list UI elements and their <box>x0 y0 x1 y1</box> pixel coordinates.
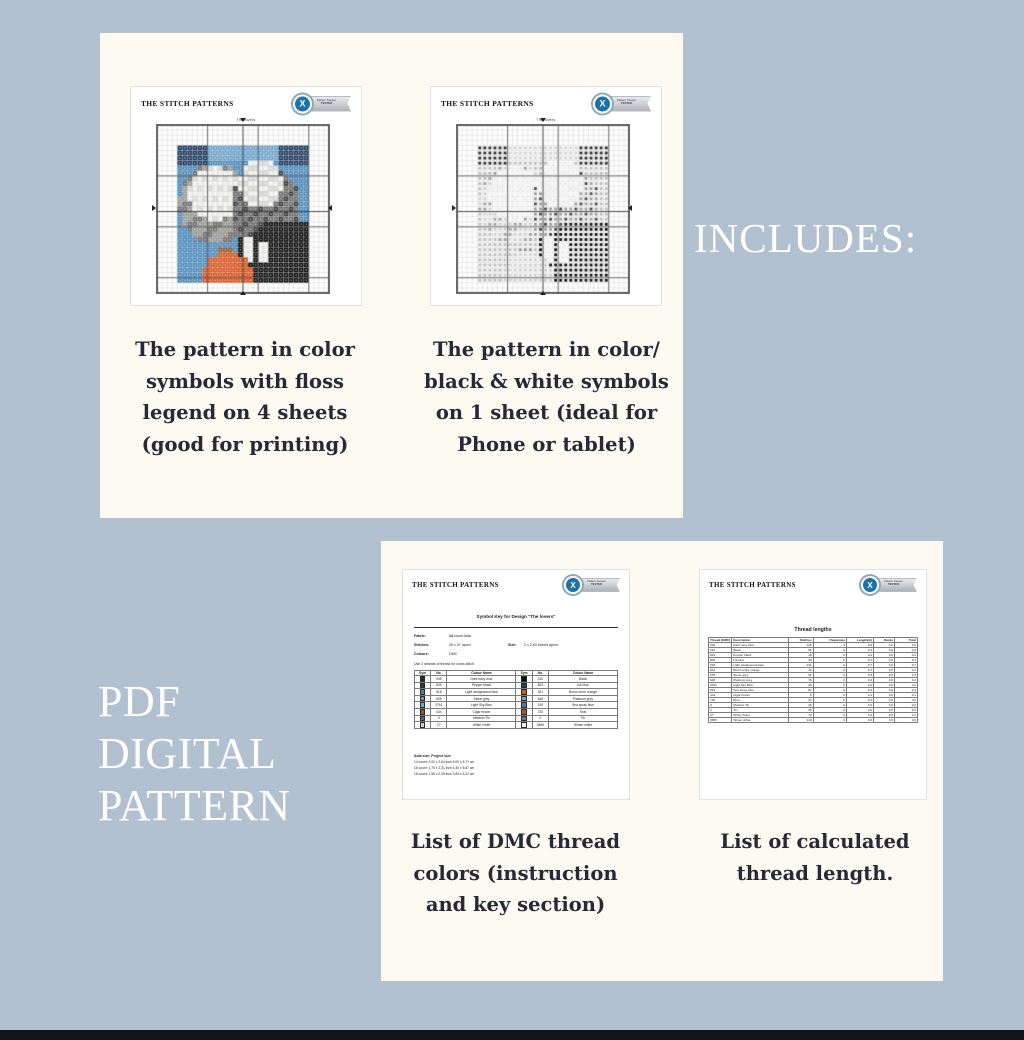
dmc-number-cell: 3865 <box>532 722 548 729</box>
symbol-chip-icon <box>420 689 426 695</box>
symbol-swatch <box>516 702 532 709</box>
colour-name-cell: Burnt ochre orange <box>548 689 617 696</box>
symbol-swatch <box>415 715 431 722</box>
thread-lengths-heading: Thread lengths <box>700 627 926 633</box>
caption-thread-length: List of calculated thread length. <box>690 826 940 889</box>
badge-seal-icon: X <box>564 576 582 594</box>
symbol-swatch <box>516 722 532 729</box>
pdf-line-1: PDF <box>98 676 291 728</box>
symbol-chip-icon <box>420 722 426 728</box>
includes-headline: INCLUDES: <box>694 214 917 262</box>
symbol-swatch <box>415 676 431 683</box>
strands-note: Use 2 strands of thread for cross stitch <box>414 662 474 666</box>
thread-dmc-cell: 3865 <box>709 718 732 723</box>
symbol-swatch <box>415 695 431 702</box>
colour-name-cell: Pepper black <box>447 682 516 689</box>
symbol-swatch <box>516 682 532 689</box>
sheet-header: THE STITCH PATTERNS Pattern Keeper TESTE… <box>700 570 926 593</box>
center-marker-right <box>328 205 332 211</box>
symbol-chip-icon <box>521 716 527 722</box>
table-row: 939Dark navy blue310Black <box>415 676 618 683</box>
thread-value-cell: 110 <box>788 718 813 723</box>
symbol-chip-icon <box>521 709 527 715</box>
symbol-chip-icon <box>420 683 426 689</box>
project-size-title: Aida size: Project size <box>414 754 451 758</box>
sheet-header: THE STITCH PATTERNS Pattern Keeper TESTE… <box>431 87 661 112</box>
dmc-number-cell: 648 <box>532 695 548 702</box>
sheet-brand-title: THE STITCH PATTERNS <box>709 581 796 589</box>
symbol-chip-icon <box>420 716 426 722</box>
pattern-keeper-badge: Pattern Keeper TESTED X <box>293 95 351 112</box>
colour-name-cell: Ink blue <box>548 682 617 689</box>
symbol-swatch <box>415 682 431 689</box>
colour-name-cell: Light wedgewood blue <box>447 689 516 696</box>
thread-col-0: Thread (DMC) <box>709 638 732 643</box>
bw-chart: The lovers <box>456 119 636 294</box>
thread-value-cell: 0.6 <box>847 718 874 723</box>
symbol-swatch <box>415 708 431 715</box>
pdf-line-2: DIGITAL <box>98 728 291 780</box>
dmc-number-cell: 921 <box>532 689 548 696</box>
chart-design-title: The lovers <box>456 118 636 122</box>
table-row: 3761Light Sky Blue519Sea spray blue <box>415 702 618 709</box>
chart-design-title: The lovers <box>156 118 336 122</box>
dmc-number-cell: 3 <box>431 715 447 722</box>
colour-name-cell: White Violet <box>447 722 516 729</box>
symbol-swatch <box>516 708 532 715</box>
stitches-label: Stitches: <box>414 643 429 647</box>
bw-pattern-sheet: THE STITCH PATTERNS Pattern Keeper TESTE… <box>430 86 662 306</box>
center-marker-top <box>240 118 246 122</box>
symbol-swatch <box>415 722 431 729</box>
pattern-keeper-badge: Pattern Keeper TESTED X <box>564 577 620 593</box>
table-row: 535Stone grey648Platinum grey <box>415 695 618 702</box>
center-marker-bottom <box>540 291 546 295</box>
colour-name-cell: Rust <box>548 708 617 715</box>
colours-label: Colours: <box>414 652 429 656</box>
colour-name-cell: Sea spray blue <box>548 702 617 709</box>
pattern-keeper-badge: Pattern Keeper TESTED X <box>593 95 651 112</box>
caption-color-symbols: The pattern in color symbols with floss … <box>130 334 360 460</box>
symbol-swatch <box>415 702 431 709</box>
dmc-number-cell: 434 <box>431 708 447 715</box>
dmc-number-cell: 519 <box>532 702 548 709</box>
heading-rule <box>414 627 618 628</box>
symbol-chip-icon <box>521 696 527 702</box>
thread-value-cell: 0.0 <box>874 718 895 723</box>
thread-lengths-table: Thread (DMC)DescriptionStitchesPequenies… <box>708 637 918 723</box>
dmc-number-cell: 518 <box>431 689 447 696</box>
colour-name-cell: Platinum grey <box>548 695 617 702</box>
footer-bar <box>0 1030 1024 1040</box>
table-row: 518Light wedgewood blue921Burnt ochre or… <box>415 689 618 696</box>
colour-name-cell: Stone grey <box>447 695 516 702</box>
fabric-label: Fabric: <box>414 634 426 638</box>
badge-seal-icon: X <box>293 94 312 113</box>
dmc-number-cell: 535 <box>431 695 447 702</box>
dmc-number-cell: 803 <box>532 682 548 689</box>
dmc-number-cell: 2 <box>532 715 548 722</box>
stitches-value: 26 x 37 aprox <box>449 643 471 647</box>
fabric-value: 14 count Aida <box>449 634 471 638</box>
symbol-swatch <box>415 689 431 696</box>
symbol-chip-icon <box>420 696 426 702</box>
project-size-3: 18 count: 1.56 x 2.05 inch 3.95 x 5.22 c… <box>414 772 474 776</box>
symbol-chip-icon <box>420 709 426 715</box>
thread-value-cell: 0.6 <box>895 718 918 723</box>
dmc-number-cell: 939 <box>431 676 447 683</box>
center-marker-right <box>628 205 632 211</box>
dmc-number-cell: 310 <box>532 676 548 683</box>
colour-name-cell: Dark navy blue <box>447 676 516 683</box>
center-marker-top <box>540 118 546 122</box>
symbol-chip-icon <box>521 676 527 682</box>
pattern-keeper-badge: Pattern Keeper TESTED X <box>861 577 917 593</box>
dmc-number-cell: 3761 <box>431 702 447 709</box>
color-chart: The lovers <box>156 119 336 294</box>
dmc-number-cell: 27 <box>431 722 447 729</box>
symbol-key-table: SymNo.Colour NameSymNo.Colour Name 939Da… <box>414 670 618 729</box>
badge-seal-icon: X <box>861 576 879 594</box>
chart-grid <box>456 124 630 294</box>
symbol-swatch <box>516 689 532 696</box>
dmc-number-cell: 720 <box>532 708 548 715</box>
colour-name-cell: Medium Tin <box>447 715 516 722</box>
center-marker-bottom <box>240 291 246 295</box>
caption-dmc-list: List of DMC thread colors (instruction a… <box>398 826 633 921</box>
table-row: 3Medium Tin2Tin <box>415 715 618 722</box>
sheet-brand-title: THE STITCH PATTERNS <box>141 99 234 108</box>
chart-grid <box>156 124 330 294</box>
center-marker-left <box>152 205 156 211</box>
table-row: 844Pepper black803Ink blue <box>415 682 618 689</box>
pdf-digital-pattern-headline: PDF DIGITAL PATTERN <box>98 676 291 832</box>
thread-table-wrap: Thread (DMC)DescriptionStitchesPequenies… <box>708 637 918 723</box>
symbol-chip-icon <box>521 722 527 728</box>
symbol-chip-icon <box>521 683 527 689</box>
project-size-1: 14 count: 2.00 x 2.64 inch 5.00 x 6.71 c… <box>414 760 474 764</box>
center-marker-left <box>452 205 456 211</box>
dmc-number-cell: 844 <box>431 682 447 689</box>
sheet-header: THE STITCH PATTERNS Pattern Keeper TESTE… <box>131 87 361 112</box>
colours-value: DMC <box>449 652 457 656</box>
colour-name-cell: Winter white <box>548 722 617 729</box>
symbol-swatch <box>516 695 532 702</box>
symbol-chip-icon <box>521 702 527 708</box>
symbol-chip-icon <box>420 676 426 682</box>
colour-name-cell: Cigar brown <box>447 708 516 715</box>
table-row: 3865Winter white11000.60.00.6 <box>709 718 918 723</box>
table-row: 27White Violet3865Winter white <box>415 722 618 729</box>
fabric-count-unit: count Aida <box>453 634 471 638</box>
thread-description-cell: Winter white <box>732 718 788 723</box>
symbol-key-table-wrap: SymNo.Colour NameSymNo.Colour Name 939Da… <box>414 670 618 729</box>
symbol-key-heading: Symbol Key for Design "The lovers" <box>403 614 629 619</box>
colour-name-cell: Light Sky Blue <box>447 702 516 709</box>
table-row: 434Cigar brown720Rust <box>415 708 618 715</box>
sheet-brand-title: THE STITCH PATTERNS <box>441 99 534 108</box>
size-value: 2 x 2.64 inches aprox <box>524 643 558 647</box>
thread-lengths-sheet: THE STITCH PATTERNS Pattern Keeper TESTE… <box>699 569 927 800</box>
symbol-chip-icon <box>521 689 527 695</box>
symbol-chip-icon <box>420 702 426 708</box>
symbol-key-sheet: THE STITCH PATTERNS Pattern Keeper TESTE… <box>402 569 630 800</box>
symbol-swatch <box>516 676 532 683</box>
project-size-2: 16 count: 1.75 x 2.31 inch 4.40 x 5.87 c… <box>414 766 474 770</box>
sheet-header: THE STITCH PATTERNS Pattern Keeper TESTE… <box>403 570 629 593</box>
color-pattern-sheet: THE STITCH PATTERNS Pattern Keeper TESTE… <box>130 86 362 306</box>
sheet-brand-title: THE STITCH PATTERNS <box>412 581 499 589</box>
colour-name-cell: Tin <box>548 715 617 722</box>
caption-bw-symbols: The pattern in color/ black & white symb… <box>424 334 669 460</box>
colour-name-cell: Black <box>548 676 617 683</box>
poster-canvas: THE STITCH PATTERNS Pattern Keeper TESTE… <box>0 0 1024 1040</box>
symbol-swatch <box>516 715 532 722</box>
pdf-line-3: PATTERN <box>98 780 291 832</box>
badge-seal-icon: X <box>593 94 612 113</box>
thread-value-cell: 0 <box>813 718 846 723</box>
size-label: Size: <box>508 643 516 647</box>
